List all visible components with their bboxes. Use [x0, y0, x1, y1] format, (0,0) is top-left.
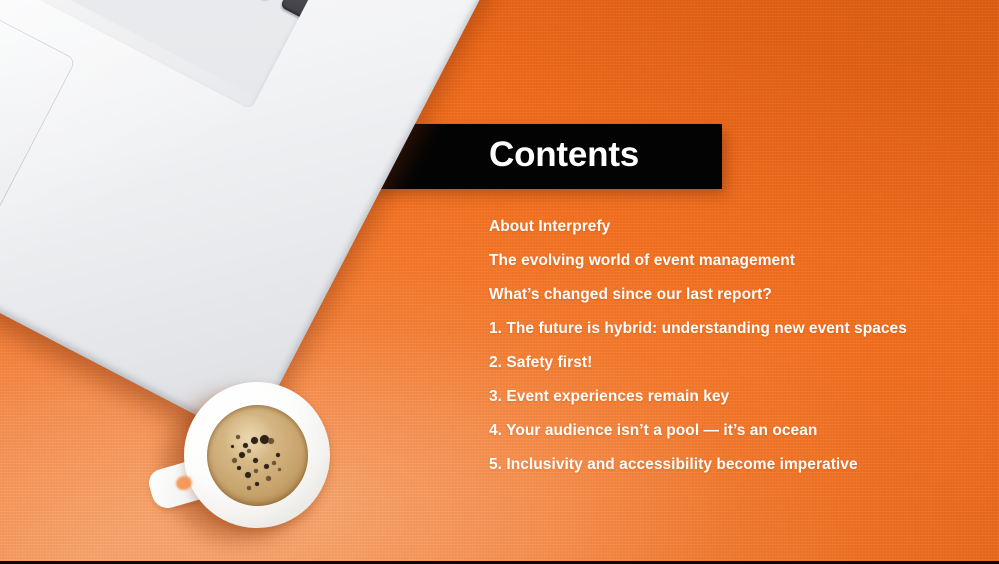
coffee-bubble — [276, 453, 280, 457]
coffee-bubble — [237, 466, 241, 470]
presentation-slide: L ? I ▲ ▼ ▶ ← ? ▼ K — [0, 0, 999, 564]
contents-item-about-interprefy[interactable]: About Interprefy — [489, 210, 959, 244]
keyboard-key — [235, 0, 286, 1]
contents-item-whats-changed[interactable]: What’s changed since our last report? — [489, 278, 959, 312]
coffee-bubble — [254, 469, 258, 473]
coffee-bubble — [266, 476, 271, 481]
coffee-cup-icon — [150, 378, 340, 538]
contents-item-4-audience-ocean[interactable]: 4. Your audience isn’t a pool — it’s an … — [489, 414, 959, 448]
coffee-bubble — [272, 461, 276, 465]
coffee-bubble — [247, 486, 251, 490]
contents-item-5-inclusivity[interactable]: 5. Inclusivity and accessibility become … — [489, 448, 959, 482]
contents-item-1-future-is-hybrid[interactable]: 1. The future is hybrid: understanding n… — [489, 312, 959, 346]
contents-item-3-event-experiences[interactable]: 3. Event experiences remain key — [489, 380, 959, 414]
page-title: Contents — [489, 133, 639, 177]
coffee-surface — [207, 405, 308, 506]
coffee-bubble — [264, 464, 269, 469]
coffee-bubble — [232, 458, 237, 463]
contents-item-evolving-world[interactable]: The evolving world of event management — [489, 244, 959, 278]
contents-item-2-safety-first[interactable]: 2. Safety first! — [489, 346, 959, 380]
coffee-bubble — [255, 482, 259, 486]
coffee-bubble — [268, 438, 274, 444]
coffee-bubble — [245, 472, 251, 478]
contents-list: About Interprefy The evolving world of e… — [489, 210, 959, 482]
coffee-bubble — [278, 468, 281, 471]
